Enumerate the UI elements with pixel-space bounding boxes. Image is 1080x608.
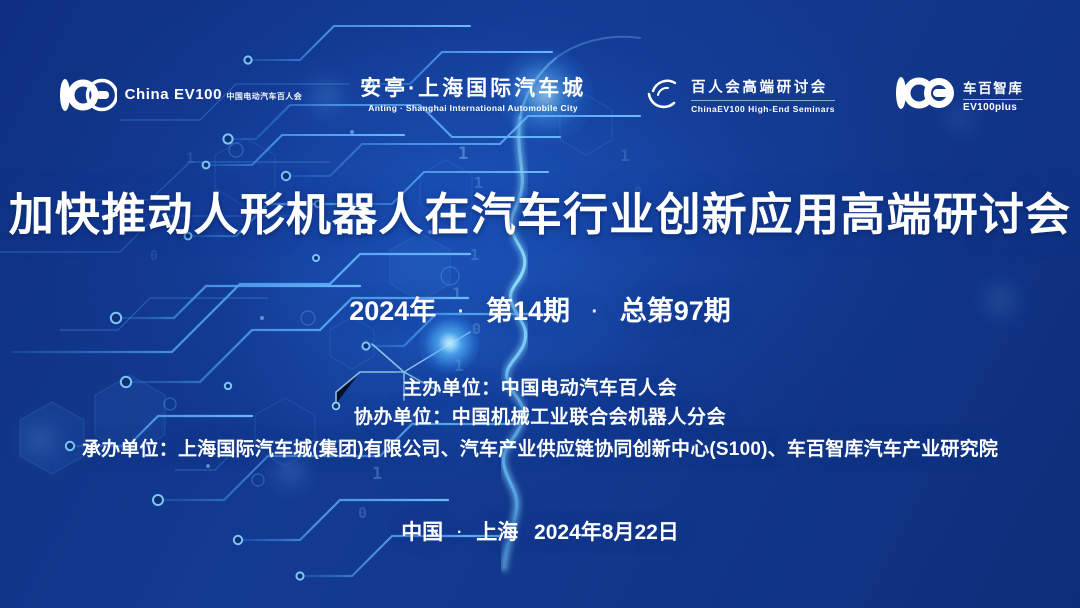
venue-country: 中国 — [401, 521, 443, 544]
organizer-name-undertaker: 上海国际汽车城(集团)有限公司、汽车产业供应链协同创新中心(S100)、车百智库… — [178, 439, 998, 460]
logo-seminars-line2: ChinaEV100 High-End Seminars — [691, 101, 835, 114]
organizer-row-undertaker: 承办单位：上海国际汽车城(集团)有限公司、汽车产业供应链协同创新中心(S100)… — [0, 433, 1080, 466]
edition-line: 2024年 · 第14期 · 总第97期 — [0, 289, 1080, 328]
conference-banner: 1 1 0 1 1 0 1 1 0 1 0 1 0 1 — [0, 0, 1080, 608]
page-title: 加快推动人形机器人在汽车行业创新应用高端研讨会 — [0, 178, 1080, 243]
logo-anting-line2: Anting · Shanghai International Automobi… — [368, 103, 578, 113]
logo-ev100plus-text: 车百智库 EV100plus — [963, 77, 1023, 113]
logo-china-ev100: China EV100 中国电动汽车百人会 — [57, 78, 303, 112]
organizer-name-host: 中国电动汽车百人会 — [501, 378, 677, 399]
ev100-infinity-logo — [57, 78, 117, 112]
edition-separator-2: · — [578, 301, 613, 323]
venue-city: 上海 — [476, 521, 518, 544]
logo-strip: China EV100 中国电动汽车百人会 安亭·上海国际汽车城 Anting … — [0, 62, 1080, 128]
logo-ev100plus: 车百智库 EV100plus — [893, 76, 1023, 115]
organizer-row-host: 主办单位：中国电动汽车百人会 — [0, 374, 1080, 403]
logo-ev100plus-line2: EV100plus — [963, 100, 1023, 113]
venue-separator: · — [449, 524, 470, 541]
organizer-role-coorganizer: 协办单位： — [354, 407, 452, 428]
logo-china-ev100-line1: China EV100 — [125, 86, 222, 103]
edition-total: 总第97期 — [620, 296, 731, 326]
logo-anting-line1: 安亭·上海国际汽车城 — [360, 77, 586, 100]
swoosh-arc-logo — [644, 74, 682, 117]
venue-date-line: 中国 · 上海 2024年8月22日 — [0, 516, 1080, 546]
edition-year: 2024年 — [349, 296, 436, 326]
logo-seminars-line1: 百人会高端研讨会 — [691, 76, 835, 101]
logo-seminars-text: 百人会高端研讨会 ChinaEV100 High-End Seminars — [691, 76, 835, 114]
logo-china-ev100-line2: 中国电动汽车百人会 — [227, 92, 303, 101]
logo-china-ev100-text: China EV100 中国电动汽车百人会 — [125, 86, 303, 104]
organizer-row-coorganizer: 协办单位：中国机械工业联合会机器人分会 — [0, 403, 1080, 432]
logo-chinaev100-seminars: 百人会高端研讨会 ChinaEV100 High-End Seminars — [644, 74, 835, 117]
venue-date: 2024年8月22日 — [524, 521, 679, 544]
organizer-list: 主办单位：中国电动汽车百人会 协办单位：中国机械工业联合会机器人分会 承办单位：… — [0, 374, 1080, 466]
logo-ev100plus-line1: 车百智库 — [963, 77, 1023, 100]
edition-separator-1: · — [444, 301, 479, 323]
organizer-role-host: 主办单位： — [403, 378, 501, 399]
organizer-role-undertaker: 承办单位： — [82, 439, 178, 460]
logo-anting-shanghai: 安亭·上海国际汽车城 Anting · Shanghai Internation… — [360, 77, 586, 112]
edition-issue: 第14期 — [486, 296, 570, 326]
organizer-name-coorganizer: 中国机械工业联合会机器人分会 — [452, 407, 726, 428]
ev100-infinity-logo — [893, 76, 955, 115]
